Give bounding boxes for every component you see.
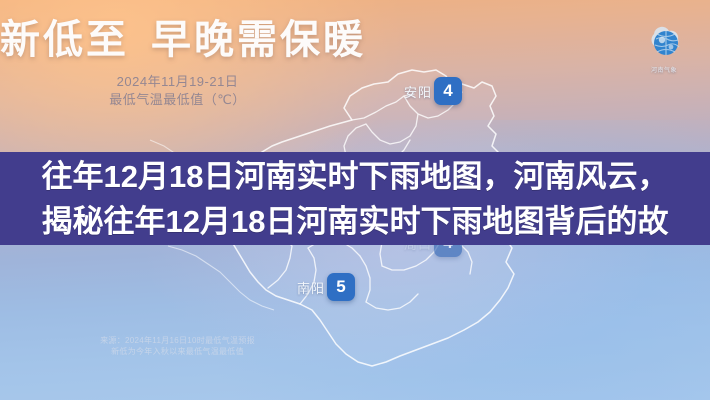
headline-part2: 早晚需保暖 [151,18,366,62]
poster-footnote: 来源：2024年11月16日10时最低气温预报 新低为今年入秋以来最低气温最低值 [0,335,710,357]
henan-meteorological-logo-icon: 河南气象 [638,18,690,74]
poster-headline: 新低至早晚需保暖 [0,14,710,66]
caption-line-1: 往年12月18日河南实时下雨地图，河南风云， [42,155,669,198]
footnote-line-1: 来源：2024年11月16日10时最低气温预报 [0,335,355,346]
poster-subtitle-metric: 最低气温最低值（℃） [0,91,710,108]
city-name-nanyang: 南阳 [297,278,325,297]
caption-overlay-band: 往年12月18日河南实时下雨地图，河南风云， 揭秘往年12月18日河南实时下雨地… [0,152,710,245]
caption-line-2: 揭秘往年12月18日河南实时下雨地图背后的故 [42,200,669,243]
city-temp-badge-anyang: 4 [434,77,462,105]
logo-label: 河南气象 [638,65,690,74]
city-temp-badge-nanyang: 5 [327,273,355,301]
city-marker-anyang[interactable]: 安阳 4 [404,77,462,105]
weather-poster: 新低至早晚需保暖 2024年11月19-21日 最低气温最低值（℃） 河南气象 … [0,0,710,400]
city-marker-nanyang[interactable]: 南阳 5 [297,273,355,301]
headline-part1: 新低至 [0,18,129,62]
city-name-anyang: 安阳 [404,82,432,101]
footnote-line-2: 新低为今年入秋以来最低气温最低值 [0,346,355,357]
poster-subtitle-date: 2024年11月19-21日 [0,73,710,90]
